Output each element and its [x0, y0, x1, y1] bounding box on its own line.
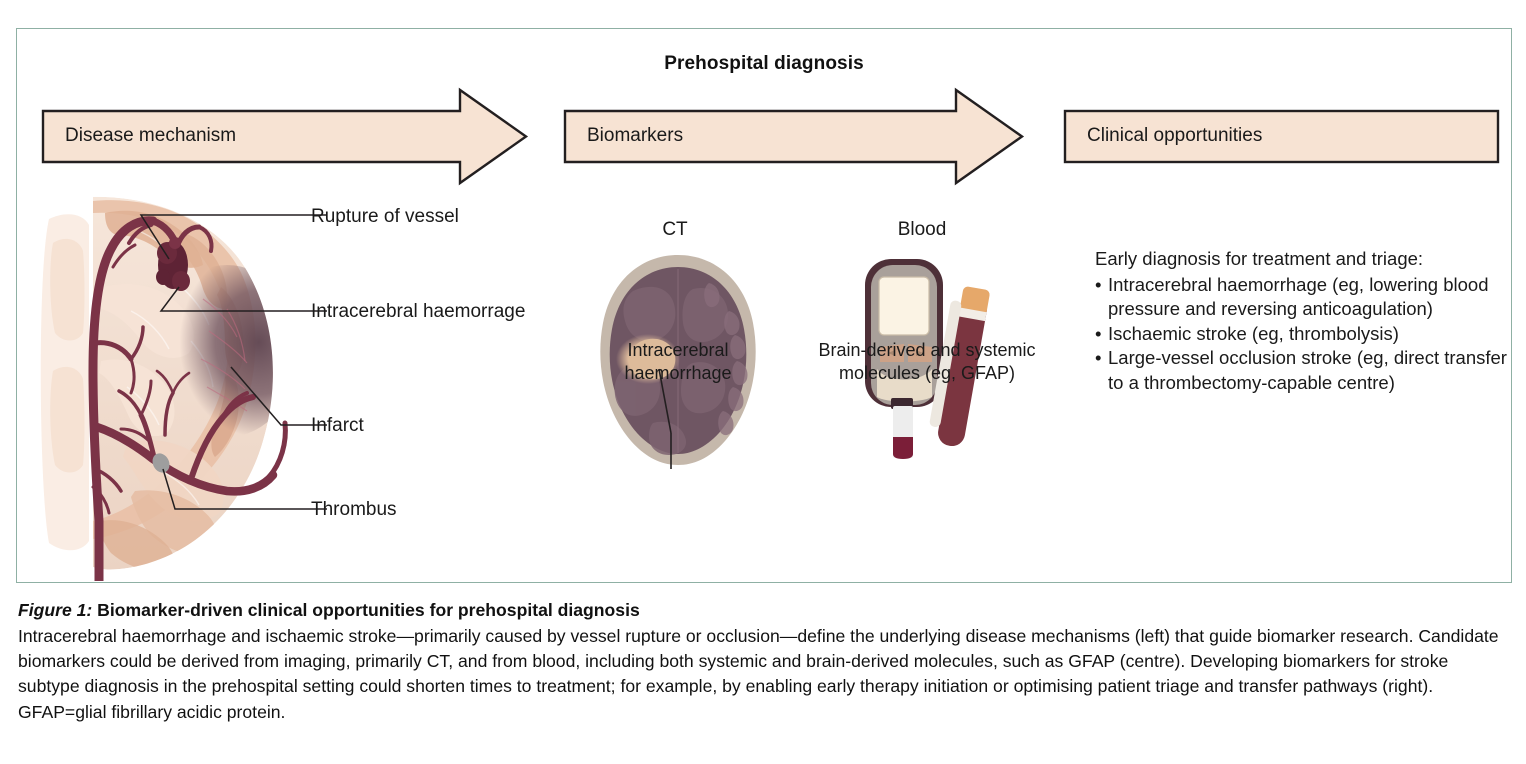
figure-page: Prehospital diagnosis Disease mechanism …	[0, 0, 1526, 764]
figure-frame: Prehospital diagnosis Disease mechanism …	[16, 28, 1512, 583]
clinical-bullet-item: Intracerebral haemorrhage (eg, lowering …	[1095, 273, 1525, 322]
clinical-bullet-item: Large-vessel occlusion stroke (eg, direc…	[1095, 346, 1525, 395]
blood-caption-line-2: molecules (eg, GFAP)	[797, 362, 1057, 385]
figure-caption-title: Figure 1: Biomarker-driven clinical oppo…	[18, 598, 1508, 623]
ct-caption-line-2: haemorrhage	[583, 362, 773, 385]
flow-step-label-clinical-opportunities[interactable]: Clinical opportunities	[1087, 125, 1262, 147]
brain-label-rupture-of-vessel: Rupture of vessel	[311, 206, 459, 228]
figure-caption-body: Intracerebral haemorrhage and ischaemic …	[18, 624, 1508, 725]
brain-label-thrombus: Thrombus	[311, 499, 397, 521]
figure-number: Figure 1:	[18, 600, 92, 620]
brain-leader-lines	[31, 191, 331, 581]
flow-step-label-disease-mechanism[interactable]: Disease mechanism	[65, 125, 236, 147]
ct-title: CT	[600, 219, 750, 241]
clinical-opportunities-text: Early diagnosis for treatment and triage…	[1095, 247, 1525, 396]
blood-title: Blood	[847, 219, 997, 241]
clinical-lead: Early diagnosis for treatment and triage…	[1095, 247, 1525, 272]
blood-caption: Brain-derived and systemic molecules (eg…	[797, 339, 1057, 386]
test-strip-blood	[893, 437, 913, 459]
flow-step-label-biomarkers[interactable]: Biomarkers	[587, 125, 683, 147]
blood-caption-line-1: Brain-derived and systemic	[797, 339, 1057, 362]
figure-caption-headline: Biomarker-driven clinical opportunities …	[92, 600, 639, 620]
brain-label-infarct: Infarct	[311, 415, 364, 437]
figure-caption: Figure 1: Biomarker-driven clinical oppo…	[18, 598, 1508, 725]
clinical-bullet-item: Ischaemic stroke (eg, thrombolysis)	[1095, 322, 1525, 347]
ct-caption-line-1: Intracerebral	[583, 339, 773, 362]
glucometer-screen	[879, 277, 929, 335]
ct-caption: Intracerebral haemorrhage	[583, 339, 773, 386]
brain-label-intracerebral-haemorrage: Intracerebral haemorrage	[311, 301, 525, 323]
clinical-bullet-list: Intracerebral haemorrhage (eg, lowering …	[1095, 273, 1525, 396]
